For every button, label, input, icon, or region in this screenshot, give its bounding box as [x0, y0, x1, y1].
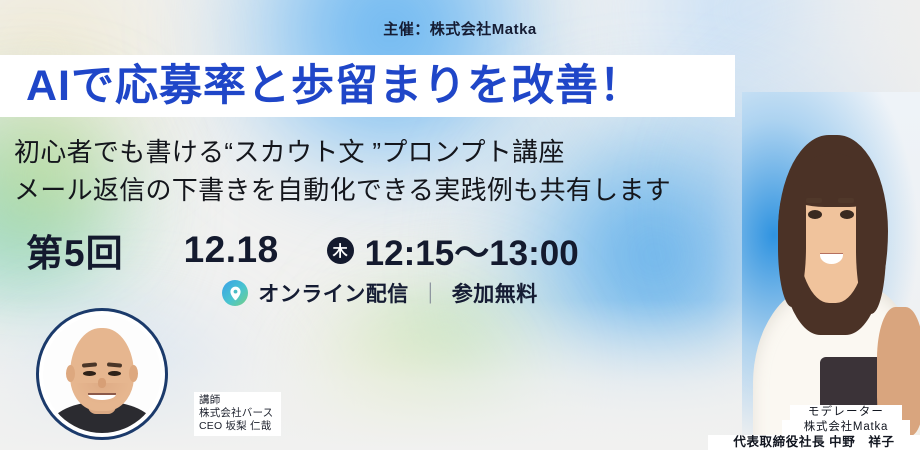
- session-number: 第5回: [26, 223, 124, 277]
- moderator-photo: [742, 92, 920, 450]
- webinar-banner: 主催：株式会社Matka AIで応募率と歩留まりを改善！ 初心者でも書ける“スカ…: [0, 0, 920, 450]
- event-date: 12.18: [184, 229, 279, 271]
- speaker-company: 株式会社バース: [199, 407, 273, 420]
- subtitle-line-2: メール返信の下書きを自動化できる実践例も共有します: [14, 171, 754, 209]
- speaker-avatar: [36, 308, 168, 440]
- venue-format: オンライン配信: [258, 278, 409, 308]
- subtitle-block: 初心者でも書ける“スカウト文 ”プロンプト講座 メール返信の下書きを自動化できる…: [14, 133, 754, 209]
- moderator-company: 株式会社Matka: [782, 420, 910, 435]
- day-of-week-badge: 木: [327, 237, 354, 264]
- speaker-credit: 講師 株式会社バース CEO 坂梨 仁哉: [194, 392, 281, 436]
- avatar-photo: [43, 315, 161, 433]
- subtitle-line-1: 初心者でも書ける“スカウト文 ”プロンプト講座: [14, 133, 754, 171]
- moderator-credit: モデレーター 株式会社Matka 代表取締役社長 中野 祥子: [680, 405, 920, 450]
- speaker-role: 講師: [199, 394, 273, 407]
- moderator-role: モデレーター: [790, 405, 902, 420]
- moderator-name: 代表取締役社長 中野 祥子: [708, 435, 920, 450]
- organizer-label: 主催：株式会社Matka: [0, 18, 920, 39]
- venue-separator: ｜: [420, 278, 441, 308]
- avatar-ring: [36, 308, 168, 440]
- schedule-row: 第5回 12.18 木 12:15〜13:00: [26, 223, 579, 277]
- map-pin-icon: [222, 280, 248, 306]
- title-band: AIで応募率と歩留まりを改善！: [0, 55, 735, 117]
- event-time-range: 12:15〜13:00: [365, 225, 579, 276]
- participation-price: 参加無料: [452, 278, 538, 308]
- page-title: AIで応募率と歩留まりを改善！: [0, 65, 643, 108]
- speaker-name: CEO 坂梨 仁哉: [199, 420, 273, 433]
